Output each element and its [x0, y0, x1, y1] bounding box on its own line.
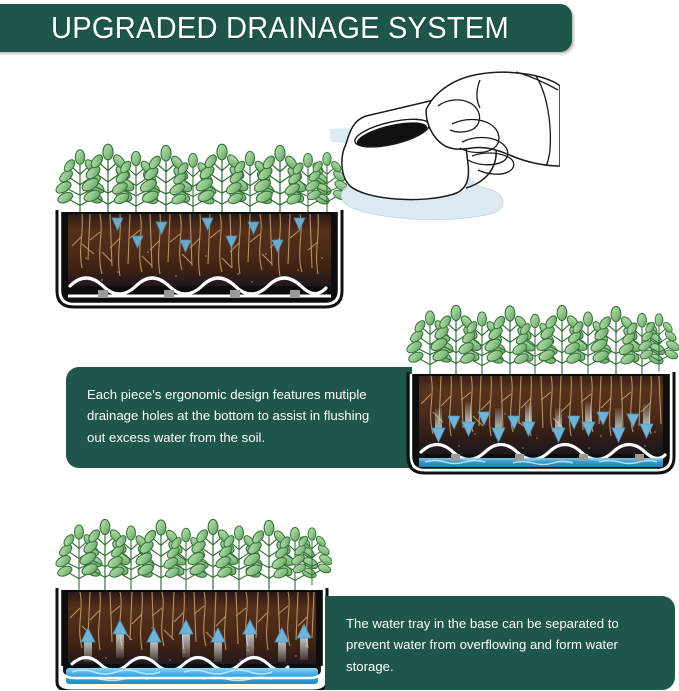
foliage	[54, 519, 332, 592]
callout-drainage-holes-text: Each piece's ergonomic design features m…	[87, 387, 369, 445]
planter-cross-section-draining	[403, 300, 679, 482]
callout-drainage-holes: Each piece's ergonomic design features m…	[66, 367, 412, 468]
header-banner: UPGRADED DRAINAGE SYSTEM	[0, 4, 572, 52]
planter-cross-section-wicking	[52, 512, 332, 690]
hand-pouring-watering-pitcher	[330, 58, 560, 238]
callout-water-tray-text: The water tray in the base can be separa…	[346, 616, 619, 674]
page-title: UPGRADED DRAINAGE SYSTEM	[6, 4, 555, 52]
planter-cross-section-watering	[52, 140, 347, 315]
foliage	[54, 144, 347, 218]
foliage	[405, 305, 679, 378]
callout-water-tray: The water tray in the base can be separa…	[325, 596, 675, 690]
